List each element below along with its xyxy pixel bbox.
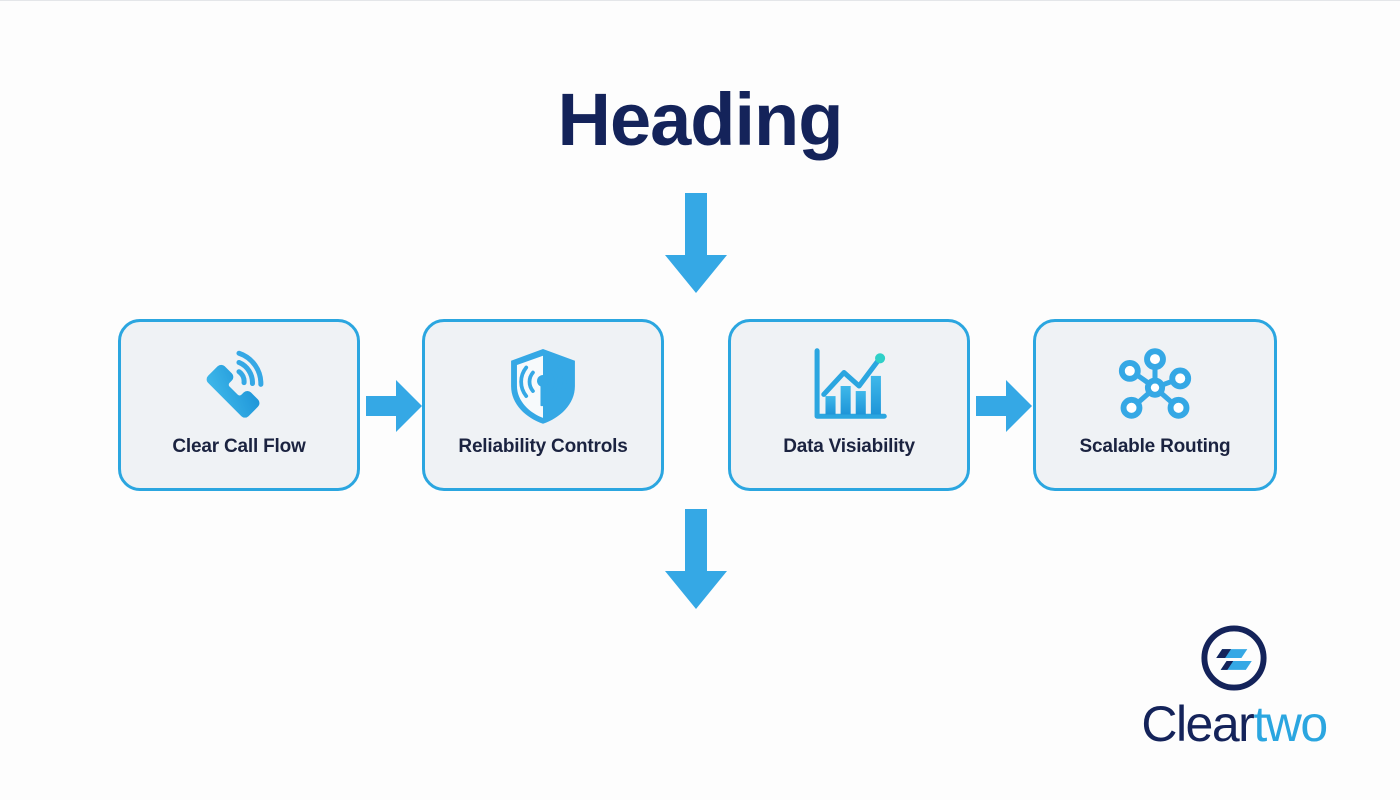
feature-card-label: Clear Call Flow	[172, 436, 305, 458]
right-arrow-icon	[366, 380, 422, 432]
feature-card-label: Scalable Routing	[1080, 436, 1231, 458]
feature-card-clear-call-flow[interactable]: Clear Call Flow	[118, 319, 360, 491]
bar-chart-trend-icon	[807, 344, 891, 428]
brand-wordmark-secondary: two	[1253, 696, 1326, 752]
cleartwo-circle-mark-icon	[1197, 621, 1271, 695]
shield-signal-icon	[501, 344, 585, 428]
feature-card-scalable-routing[interactable]: Scalable Routing	[1033, 319, 1277, 491]
feature-card-row: Clear Call Flow Reliability Contro	[0, 319, 1400, 491]
feature-card-label: Reliability Controls	[458, 436, 627, 458]
down-arrow-icon	[665, 193, 727, 293]
feature-card-data-visiability[interactable]: Data Visiability	[728, 319, 970, 491]
feature-card-reliability-controls[interactable]: Reliability Controls	[422, 319, 664, 491]
down-arrow-icon	[665, 509, 727, 609]
right-arrow-icon	[976, 380, 1032, 432]
brand-wordmark: Cleartwo	[1141, 699, 1326, 749]
phone-ringing-icon	[197, 344, 281, 428]
page-title: Heading	[0, 83, 1400, 157]
feature-card-label: Data Visiability	[783, 436, 915, 458]
brand-logo: Cleartwo	[1118, 621, 1350, 753]
brand-wordmark-primary: Clear	[1141, 696, 1253, 752]
network-nodes-icon	[1113, 344, 1197, 428]
